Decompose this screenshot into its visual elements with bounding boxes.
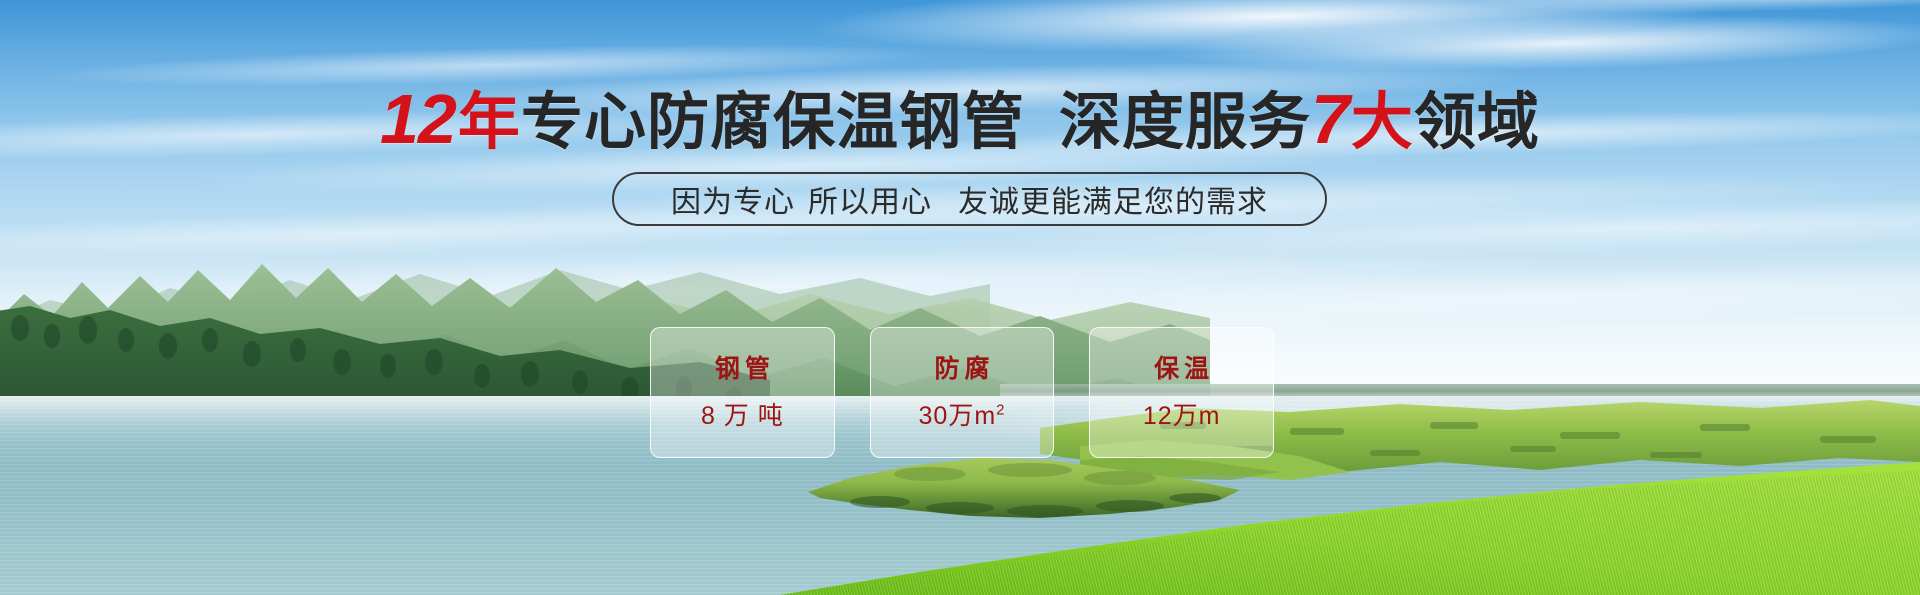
stat-card-label: 防腐: [930, 357, 995, 382]
subtitle-part-1: 因为专心: [671, 186, 795, 219]
headline-fields-suffix: 领域: [1414, 88, 1540, 157]
stat-card-label: 钢管: [710, 357, 775, 382]
stat-card-value: 12万m: [1143, 404, 1221, 429]
stat-card-value-base: 30万m: [919, 402, 997, 430]
page-title: 12年专心防腐保温钢管深度服务7大领域: [0, 84, 1920, 154]
stat-card-value-base: 8 万 吨: [701, 402, 784, 430]
stat-card-value: 8 万 吨: [701, 404, 784, 429]
headline-service-phrase: 深度服务: [1059, 88, 1311, 157]
headline-year-number: 12: [380, 80, 456, 158]
stat-card-label: 保温: [1149, 357, 1214, 382]
stat-card-steel-pipe[interactable]: 钢管 8 万 吨: [650, 327, 835, 458]
headline-year-unit: 年: [458, 88, 521, 157]
subtitle-part-2: 所以用心: [808, 186, 932, 219]
promo-banner: 12年专心防腐保温钢管深度服务7大领域 因为专心所以用心友诚更能满足您的需求 钢…: [0, 0, 1920, 595]
stat-card-insulation[interactable]: 保温 12万m: [1089, 327, 1274, 458]
headline-fields-number: 7: [1311, 80, 1349, 158]
subtitle-text: 因为专心所以用心友诚更能满足您的需求: [671, 177, 1268, 221]
stat-card-group: 钢管 8 万 吨 防腐 30万m2 保温 12万m: [650, 327, 1274, 458]
subtitle-part-3: 友诚更能满足您的需求: [958, 186, 1268, 219]
stat-card-anticorrosion[interactable]: 防腐 30万m2: [870, 327, 1055, 458]
stat-card-value-base: 12万m: [1143, 402, 1221, 430]
subtitle-pill: 因为专心所以用心友诚更能满足您的需求: [612, 172, 1327, 226]
stat-card-value-superscript: 2: [996, 401, 1005, 418]
headline-main-phrase: 专心防腐保温钢管: [521, 88, 1025, 157]
stat-card-value: 30万m2: [919, 404, 1006, 429]
headline-fields-big: 大: [1351, 88, 1414, 157]
